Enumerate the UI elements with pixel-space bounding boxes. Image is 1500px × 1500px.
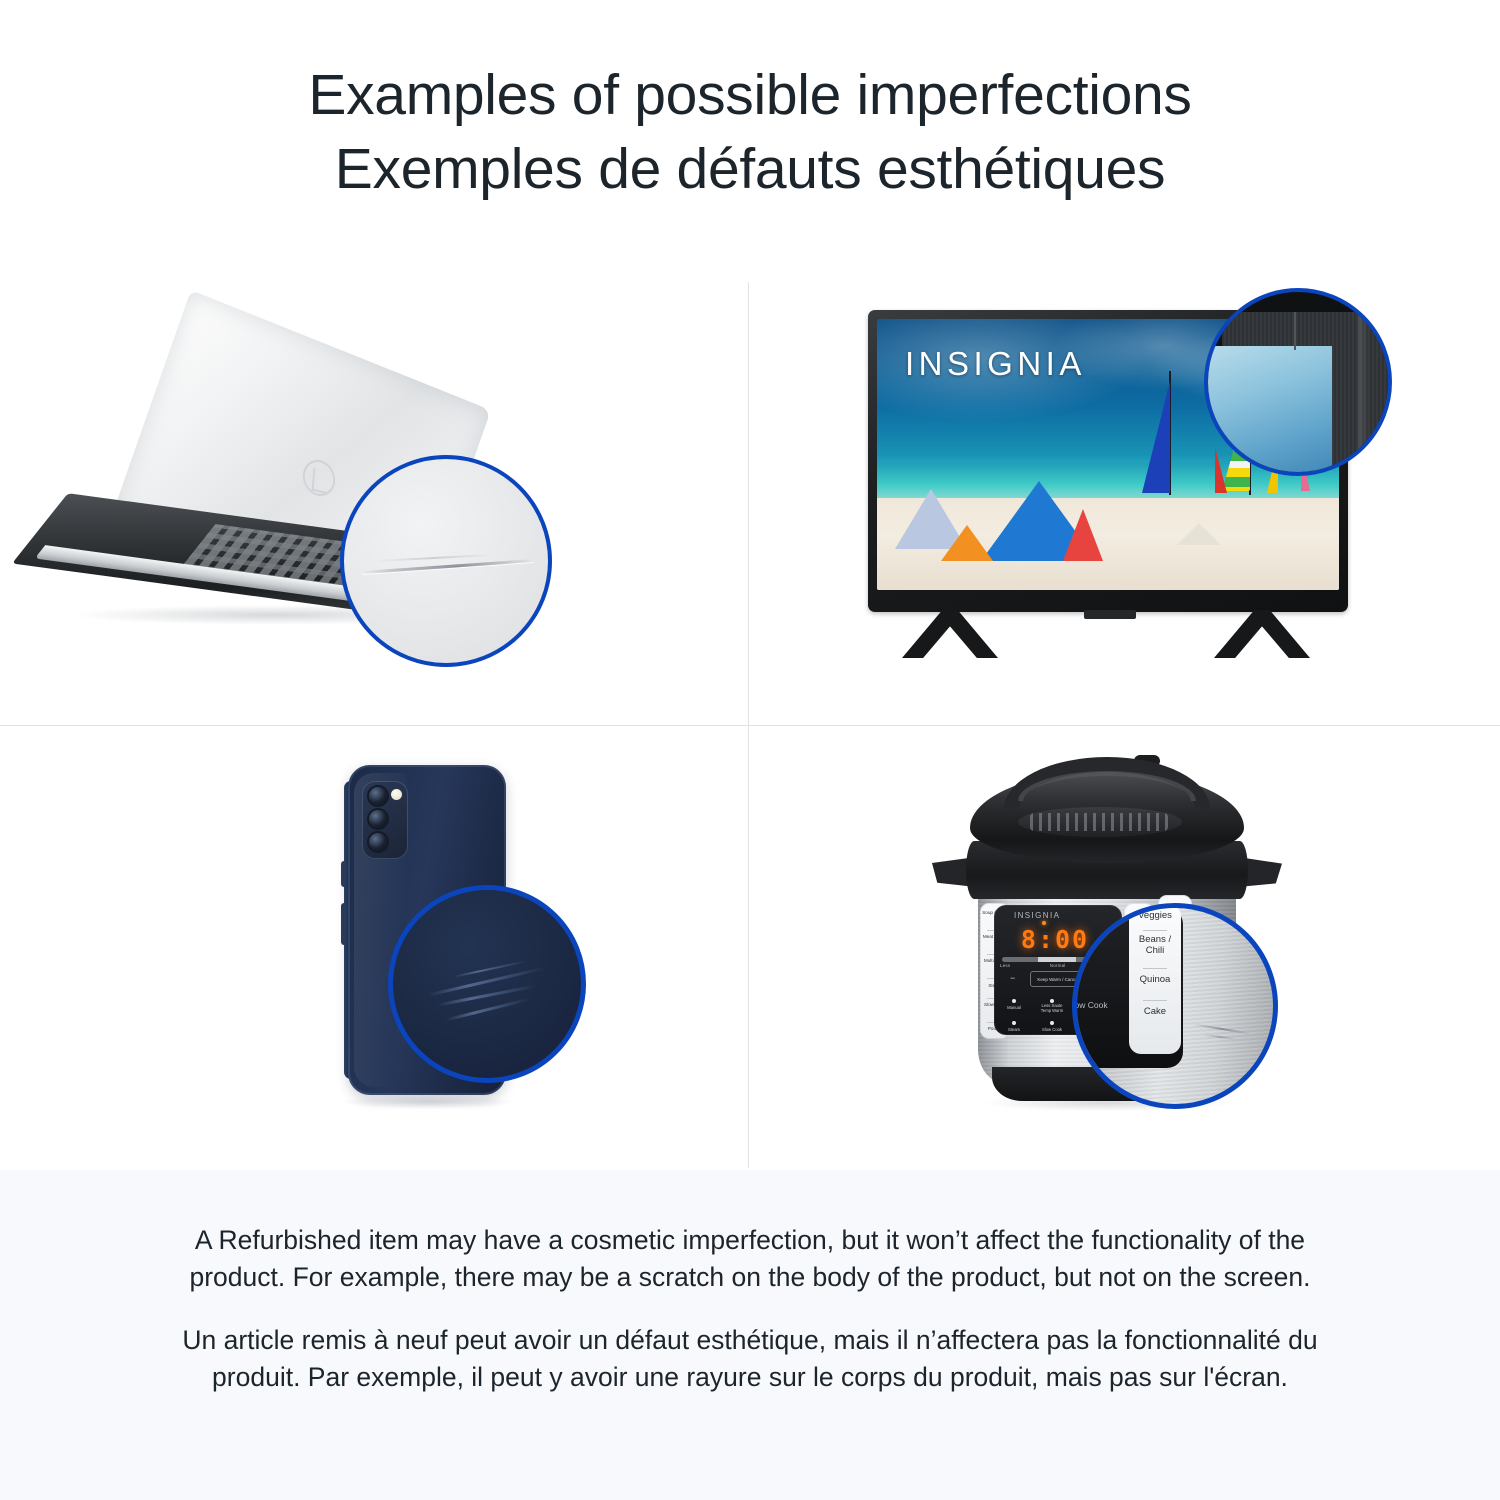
cooker-key-saute[interactable]: Less Saute Temp Warm xyxy=(1038,1003,1066,1013)
phone-volume-button xyxy=(341,903,346,945)
laptop-magnifier-circle xyxy=(340,455,552,667)
cooker-key-dot-4[interactable] xyxy=(1012,1021,1016,1025)
cooker-loupe-label-delay: Delay xyxy=(1072,954,1129,964)
cooker-loupe-label-slowcook: Slow Cook xyxy=(1072,1000,1129,1010)
cooker-loupe-label-beans: Beans / Chili xyxy=(1129,934,1181,956)
page-title-french: Exemples de défauts esthétiques xyxy=(0,132,1500,206)
cooker-key-slowcook[interactable]: Slow Cook xyxy=(1038,1027,1066,1032)
cooker-brand-label: INSIGNIA xyxy=(1014,911,1060,920)
tv-beach-sail-small xyxy=(1177,523,1221,545)
cooker-loupe-divider-2 xyxy=(1143,968,1167,969)
phone-scratch-mark-1 xyxy=(428,967,546,997)
cooker-key-manual[interactable]: Manual xyxy=(1000,1005,1028,1010)
phone-illustration xyxy=(0,727,748,1170)
cooker-magnifier-circle: Delay Slow Cook Veggies Beans / Chili Qu… xyxy=(1072,903,1278,1109)
cooker-scratch-mark-1 xyxy=(1193,1023,1251,1034)
cooker-key-dot-1[interactable] xyxy=(1012,999,1016,1003)
cooker-key-steam[interactable]: Steam xyxy=(1000,1027,1028,1032)
page-title-english: Examples of possible imperfections xyxy=(0,58,1500,132)
cooker-illustration: Soup / Broth Meat / Stew Multi Grain Ste… xyxy=(750,727,1498,1170)
caption-paragraph-english: A Refurbished item may have a cosmetic i… xyxy=(170,1222,1330,1296)
phone-magnifier-circle xyxy=(388,885,586,1083)
cooker-scale-less: Less xyxy=(1000,963,1010,968)
tv-screen-logo: INSIGNIA xyxy=(905,345,1086,383)
tv-beach-sail-orange xyxy=(941,525,993,561)
laptop-illustration xyxy=(0,282,748,725)
phone-camera-lens-2-icon xyxy=(369,810,387,828)
example-television: INSIGNIA xyxy=(750,282,1498,725)
cooker-scratch-mark-2 xyxy=(1203,1034,1237,1040)
cooker-key-dot-5[interactable] xyxy=(1050,1021,1054,1025)
phone-camera-flash-icon xyxy=(391,789,402,800)
phone-camera-lens-3-icon xyxy=(369,833,387,851)
example-laptop xyxy=(0,282,748,725)
tv-illustration: INSIGNIA xyxy=(750,282,1498,725)
cooker-loupe-label-veggies: Veggies xyxy=(1129,910,1181,921)
tv-magnifier-circle xyxy=(1204,288,1392,476)
cooker-loupe-label-quinoa: Quinoa xyxy=(1129,974,1181,985)
examples-grid: INSIGNIA xyxy=(0,282,1500,1168)
phone-power-button xyxy=(341,861,346,887)
tv-corner-scuff-mark xyxy=(1294,312,1296,350)
cooker-loupe-divider-1 xyxy=(1143,930,1167,931)
cooker-minus-button[interactable]: − xyxy=(1010,973,1015,983)
page-title: Examples of possible imperfections Exemp… xyxy=(0,58,1500,206)
cooker-loupe-label-cake: Cake xyxy=(1129,1006,1181,1017)
tv-corner-highlight xyxy=(1358,316,1370,476)
phone-shadow xyxy=(342,1095,514,1109)
page-root: Examples of possible imperfections Exemp… xyxy=(0,0,1500,1500)
laptop-scratch-mark-secondary xyxy=(374,554,494,562)
example-pressure-cooker: Soup / Broth Meat / Stew Multi Grain Ste… xyxy=(750,727,1498,1170)
tv-leg-right xyxy=(1214,610,1310,658)
grid-horizontal-divider xyxy=(0,725,1500,726)
tv-corner-screen-edge xyxy=(1208,346,1332,476)
cooker-lid-markings xyxy=(1030,813,1168,831)
tv-stand-bar xyxy=(1084,610,1136,619)
cooker-loupe-divider-3 xyxy=(1143,1000,1167,1001)
example-smartphone xyxy=(0,727,748,1170)
tv-leg-left xyxy=(902,610,998,658)
caption-panel: A Refurbished item may have a cosmetic i… xyxy=(0,1170,1500,1500)
tv-sail-blue xyxy=(1142,381,1170,493)
phone-camera-module xyxy=(362,781,408,859)
tv-beach-sail-stripe xyxy=(1063,509,1103,561)
phone-camera-lens-1-icon xyxy=(369,787,387,805)
cooker-scale-normal: Normal xyxy=(1050,963,1066,968)
caption-paragraph-french: Un article remis à neuf peut avoir un dé… xyxy=(170,1322,1330,1396)
